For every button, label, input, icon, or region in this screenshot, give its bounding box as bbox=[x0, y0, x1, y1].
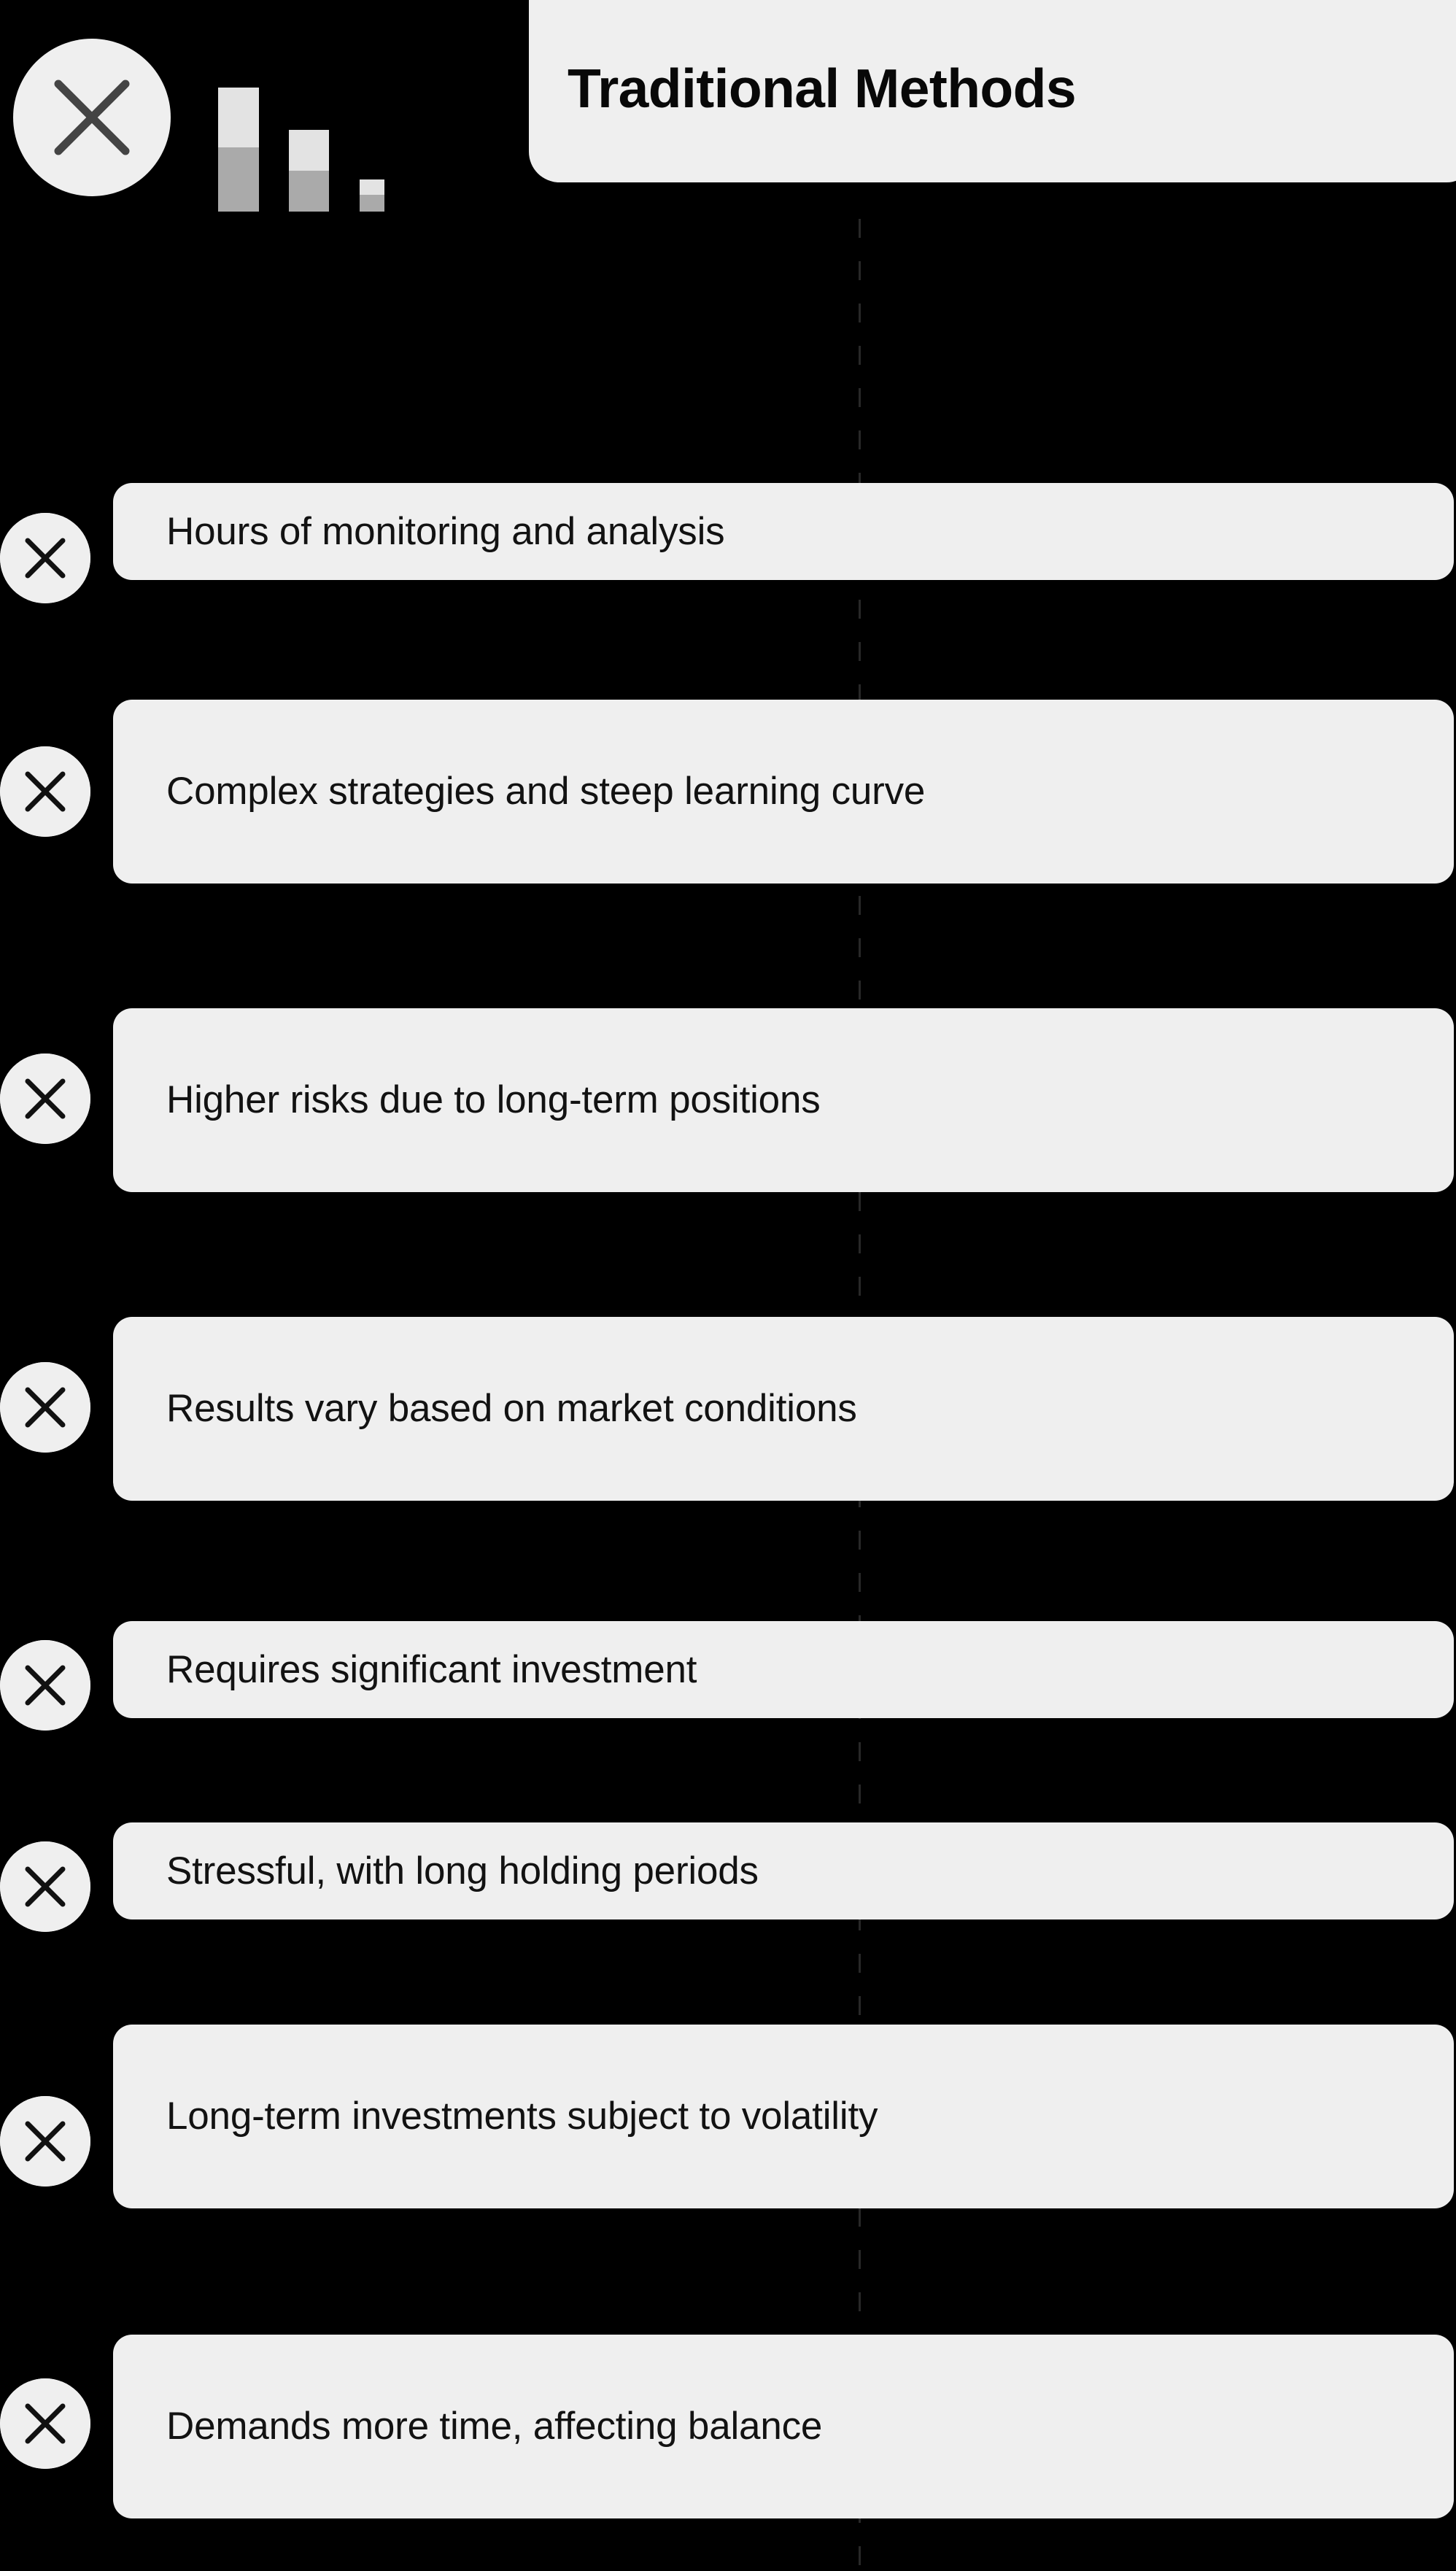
close-x-icon[interactable] bbox=[0, 746, 90, 837]
close-x-icon[interactable] bbox=[0, 513, 90, 603]
drawbacks-list: Hours of monitoring and analysis Complex… bbox=[0, 0, 1456, 2571]
list-item-label: Stressful, with long holding periods bbox=[166, 1844, 759, 1898]
list-item-label: Long-term investments subject to volatil… bbox=[166, 2089, 878, 2143]
list-item-label: Requires significant investment bbox=[166, 1643, 697, 1696]
close-x-icon[interactable] bbox=[0, 1053, 90, 1144]
close-x-icon[interactable] bbox=[0, 1640, 90, 1731]
close-x-icon[interactable] bbox=[0, 1362, 90, 1453]
list-item-label: Demands more time, affecting balance bbox=[166, 2400, 822, 2453]
list-item-label: Complex strategies and steep learning cu… bbox=[166, 765, 925, 818]
close-x-icon[interactable] bbox=[0, 1841, 90, 1932]
list-item-card[interactable]: Demands more time, affecting balance bbox=[113, 2335, 1454, 2518]
list-item-label: Higher risks due to long-term positions bbox=[166, 1073, 821, 1126]
list-item-card[interactable]: Requires significant investment bbox=[113, 1621, 1454, 1718]
list-item-card[interactable]: Long-term investments subject to volatil… bbox=[113, 2025, 1454, 2208]
list-item-card[interactable]: Hours of monitoring and analysis bbox=[113, 483, 1454, 580]
list-item-label: Hours of monitoring and analysis bbox=[166, 505, 724, 558]
list-item-card[interactable]: Complex strategies and steep learning cu… bbox=[113, 700, 1454, 884]
list-item-card[interactable]: Results vary based on market conditions bbox=[113, 1317, 1454, 1501]
list-item-label: Results vary based on market conditions bbox=[166, 1382, 857, 1435]
close-x-icon[interactable] bbox=[0, 2096, 90, 2187]
list-item-card[interactable]: Higher risks due to long-term positions bbox=[113, 1008, 1454, 1192]
close-x-icon[interactable] bbox=[0, 2378, 90, 2469]
list-item-card[interactable]: Stressful, with long holding periods bbox=[113, 1822, 1454, 1919]
